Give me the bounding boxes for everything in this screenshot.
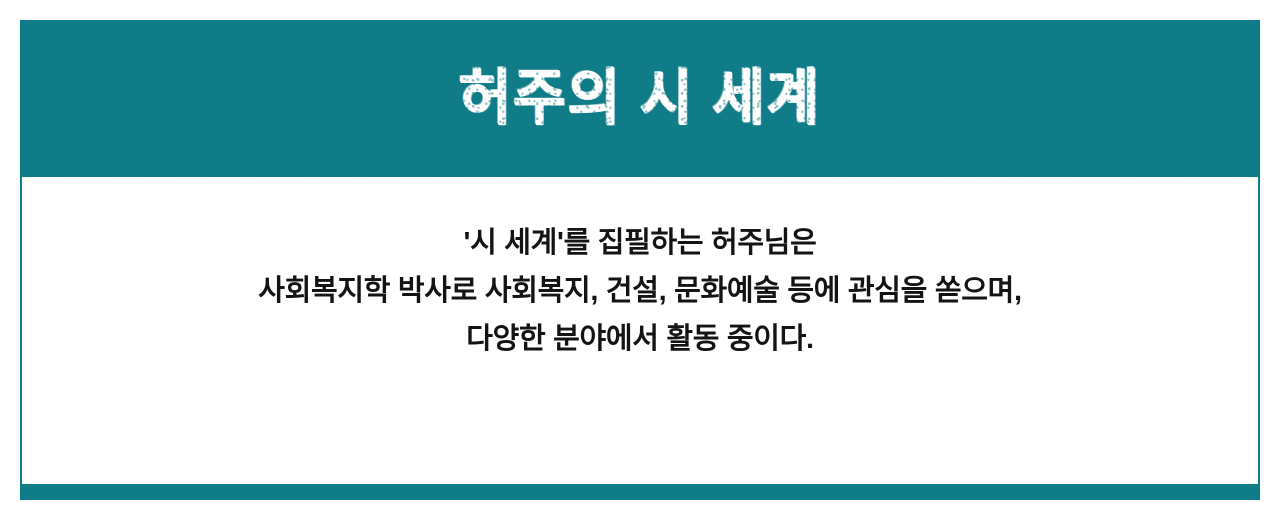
body-line-3: 다양한 분야에서 활동 중이다. <box>466 315 814 363</box>
page-title: 허주의 시 세계 <box>459 68 821 128</box>
body-line-2: 사회복지학 박사로 사회복지, 건설, 문화예술 등에 관심을 쏟으며, <box>258 267 1021 315</box>
header-banner: 허주의 시 세계 <box>20 20 1260 177</box>
body-content: '시 세계'를 집필하는 허주님은 사회복지학 박사로 사회복지, 건설, 문화… <box>22 177 1258 484</box>
footer-accent-bar <box>20 484 1260 500</box>
body-line-1: '시 세계'를 집필하는 허주님은 <box>463 219 816 267</box>
poster-card: 허주의 시 세계 '시 세계'를 집필하는 허주님은 사회복지학 박사로 사회복… <box>20 20 1260 500</box>
